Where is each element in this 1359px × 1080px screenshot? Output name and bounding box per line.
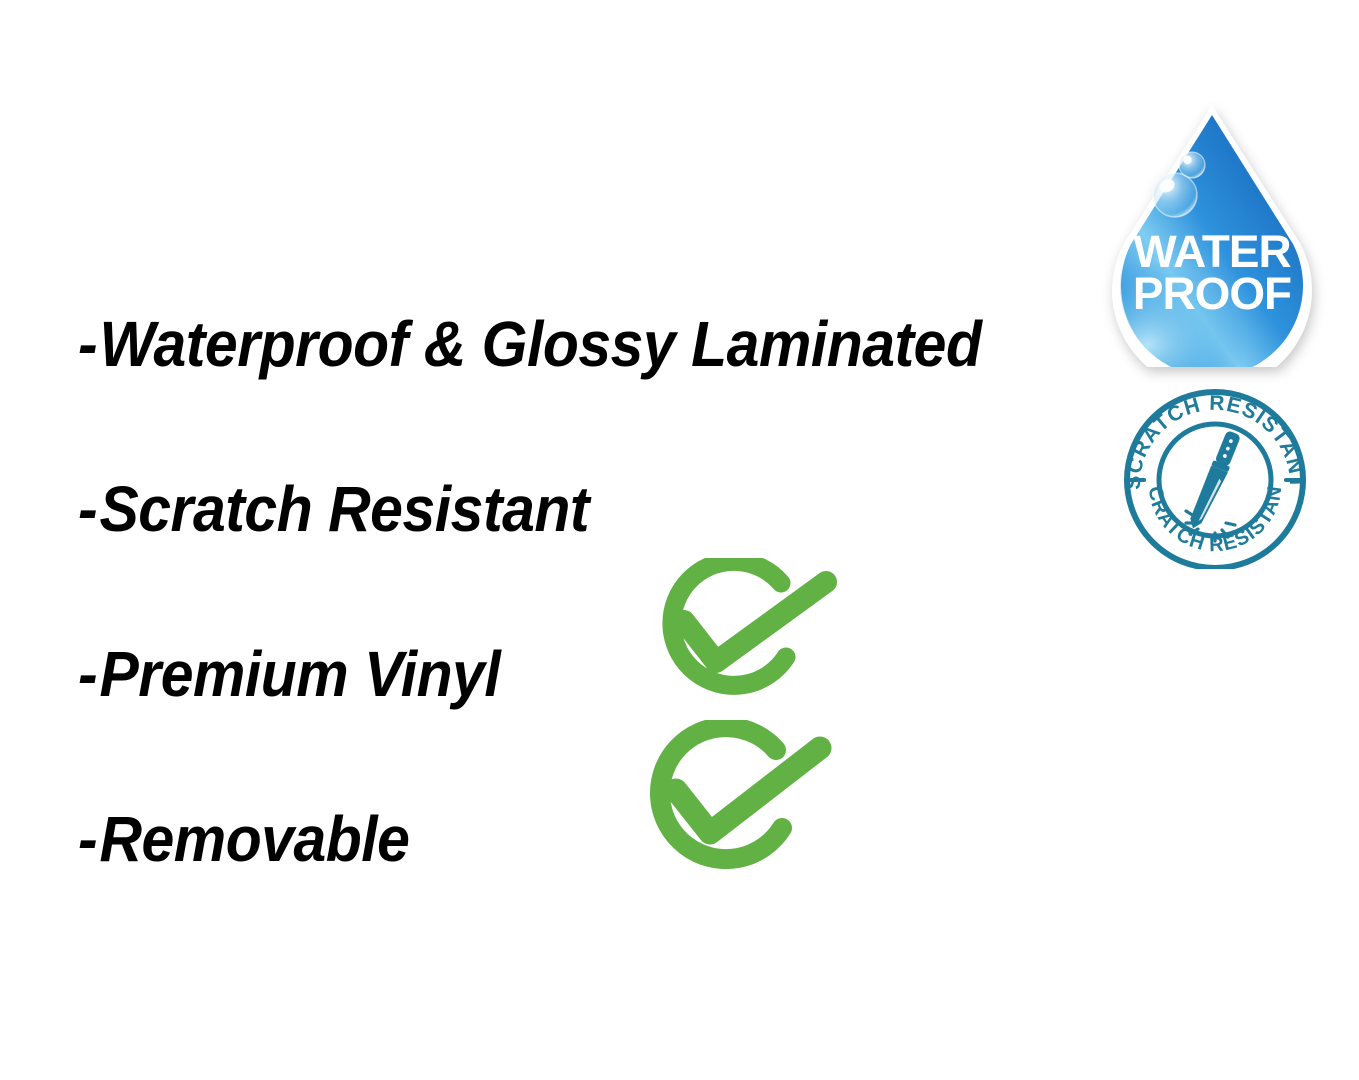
feature-label: Scratch Resistant xyxy=(99,473,589,545)
feature-list-item: -Scratch Resistant xyxy=(78,427,1016,592)
bullet-dash: - xyxy=(78,803,99,875)
feature-list-item: -Removable xyxy=(78,757,1016,922)
checkmark-icon xyxy=(684,582,826,662)
feature-highlight-graphic: -Waterproof & Glossy Laminated -Scratch … xyxy=(0,0,1359,1080)
check-circle-premium-vinyl xyxy=(640,558,840,710)
check-circle-removable xyxy=(632,720,832,882)
feature-label: Waterproof & Glossy Laminated xyxy=(99,308,981,380)
knife-icon xyxy=(1187,429,1243,532)
feature-label: Premium Vinyl xyxy=(99,638,500,710)
scratch-resistant-badge: SCRATCH RESISTANT SCRATCH RESISTANT xyxy=(1118,387,1312,569)
feature-label: Removable xyxy=(99,803,409,875)
feature-list-item: -Premium Vinyl xyxy=(78,592,1016,757)
bullet-dash: - xyxy=(78,638,99,710)
bullet-dash: - xyxy=(78,473,99,545)
feature-list-item: -Waterproof & Glossy Laminated xyxy=(78,262,1016,427)
waterproof-badge: WATER PROOF xyxy=(1108,103,1316,367)
bullet-dash: - xyxy=(78,308,99,380)
checkmark-icon xyxy=(676,748,820,833)
water-drop-icon xyxy=(1108,103,1316,367)
feature-list: -Waterproof & Glossy Laminated -Scratch … xyxy=(78,262,1098,922)
